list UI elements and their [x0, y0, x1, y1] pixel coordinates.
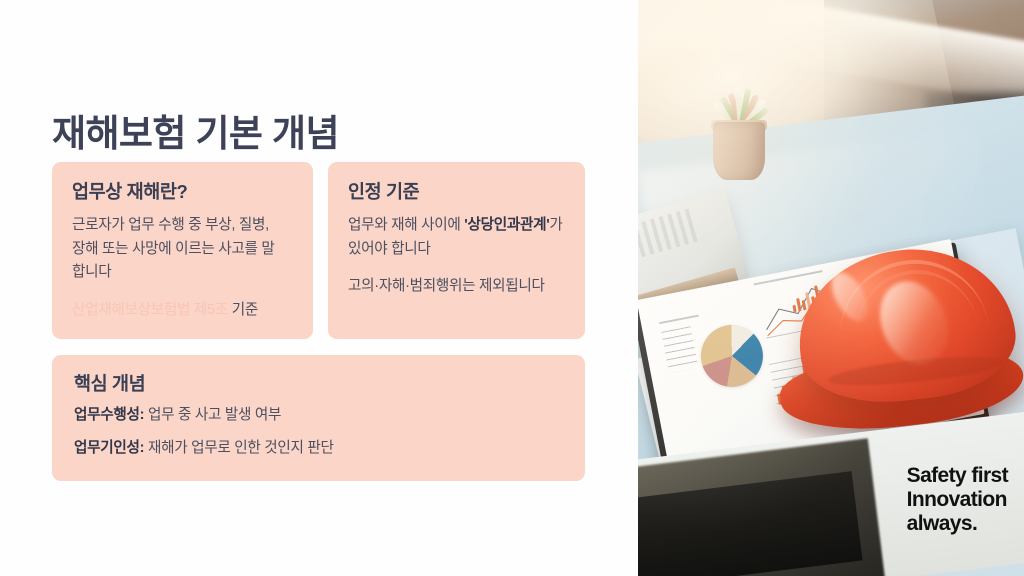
card-definition-body-line-2: 장해 또는 사망에 이르는 사고를 말 — [72, 241, 275, 257]
key-concept-label: 업무기인성: — [74, 440, 144, 456]
card-key-concepts-title: 핵심 개념 — [74, 372, 563, 395]
photo-panel: Safety first Innovation always. — [638, 0, 1024, 576]
card-criteria-body-prefix: 업무와 재해 사이에 — [348, 217, 464, 233]
card-criteria-body-emphasis: '상당인과관계' — [464, 217, 549, 233]
content-panel: 재해보험 기본 개념 업무상 재해란? 근로자가 업무 수행 중 부상, 질병,… — [0, 0, 638, 576]
law-reference-suffix: 기준 — [228, 302, 258, 318]
hard-hat — [774, 240, 1024, 440]
card-definition-body-line-1: 근로자가 업무 수행 중 부상, 질병, — [72, 217, 269, 233]
plant-pot — [713, 122, 765, 180]
card-definition-note: 산업재해보상보험법 제5조 기준 — [72, 299, 293, 322]
key-concept-label: 업무수행성: — [74, 407, 144, 423]
card-definition-body: 근로자가 업무 수행 중 부상, 질병, 장해 또는 사망에 이르는 사고를 말… — [72, 214, 293, 285]
card-criteria-body-second: 고의·자해·범죄행위는 제외됩니다 — [348, 275, 565, 299]
card-criteria-body: 업무와 재해 사이에 '상당인과관계'가 있어야 합니다 — [348, 214, 565, 261]
card-criteria: 인정 기준 업무와 재해 사이에 '상당인과관계'가 있어야 합니다 고의·자해… — [328, 162, 585, 339]
card-definition-body-line-3: 합니다 — [72, 264, 111, 280]
pie-chart — [696, 320, 769, 393]
law-reference: 산업재해보상보험법 제5조 — [72, 302, 228, 318]
key-concept-text: 업무 중 사고 발생 여부 — [144, 407, 281, 423]
card-definition-title: 업무상 재해란? — [72, 180, 293, 203]
page-title: 재해보험 기본 개념 — [52, 112, 339, 156]
key-concept-item: 업무수행성: 업무 중 사고 발생 여부 — [74, 404, 563, 427]
tagline-line-1: Safety first — [907, 464, 1008, 488]
tagline-line-2: Innovation — [907, 488, 1008, 512]
key-concept-text: 재해가 업무로 인한 것인지 판단 — [144, 440, 333, 456]
tagline-line-3: always. — [907, 512, 1008, 536]
card-criteria-title: 인정 기준 — [348, 180, 565, 203]
slide: 재해보험 기본 개념 업무상 재해란? 근로자가 업무 수행 중 부상, 질병,… — [0, 0, 1024, 576]
report-subheading-line — [659, 315, 699, 325]
card-definition: 업무상 재해란? 근로자가 업무 수행 중 부상, 질병, 장해 또는 사망에 … — [52, 162, 313, 339]
key-concept-item: 업무기인성: 재해가 업무로 인한 것인지 판단 — [74, 437, 563, 460]
card-key-concepts: 핵심 개념 업무수행성: 업무 중 사고 발생 여부 업무기인성: 재해가 업무… — [52, 355, 585, 481]
tagline: Safety first Innovation always. — [907, 464, 1008, 536]
report-text-lines — [661, 326, 698, 373]
